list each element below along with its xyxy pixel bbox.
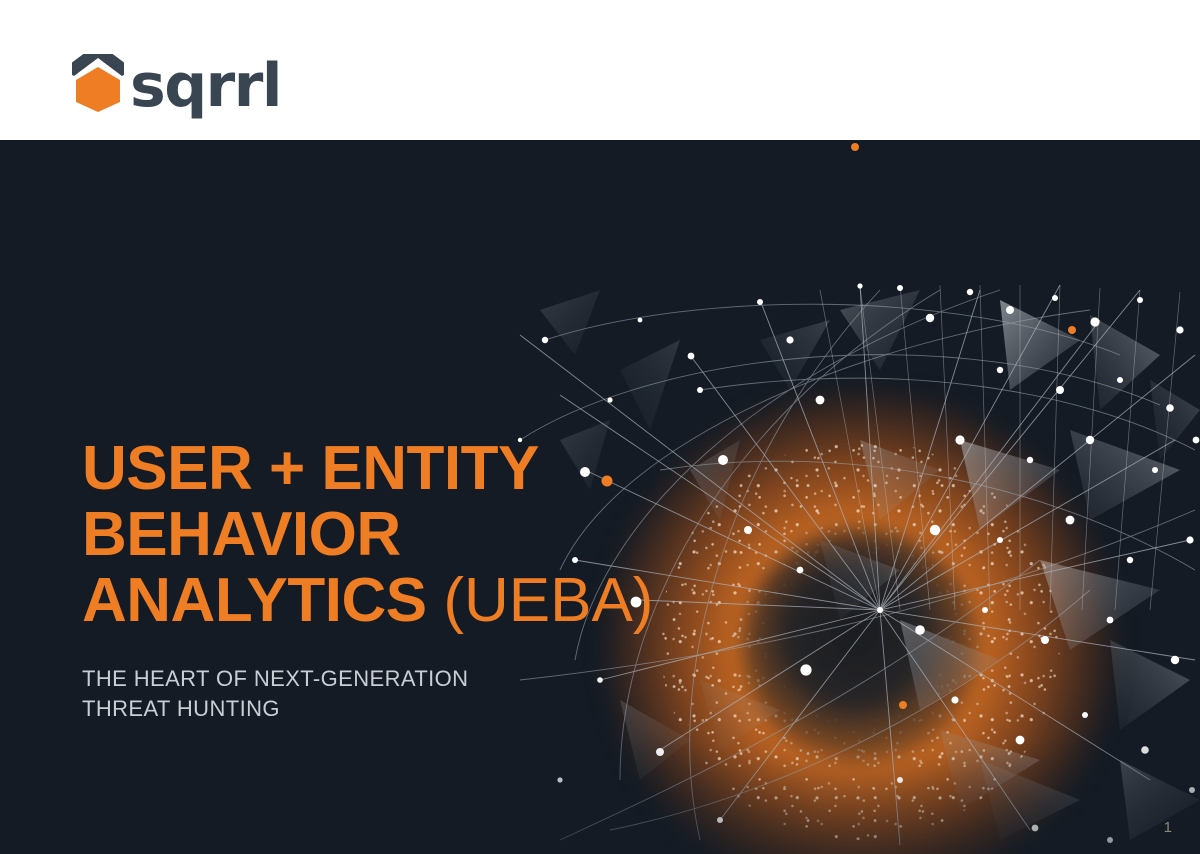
slide-header: sqrrl [0, 0, 1200, 140]
hero-subtitle-line-1: THE HEART OF NEXT-GENERATION [82, 664, 642, 694]
hero-title-line-3: ANALYTICS (UEBA) [82, 568, 642, 634]
hero-section: USER + ENTITY BEHAVIOR ANALYTICS (UEBA) … [0, 140, 1200, 854]
hero-text-block: USER + ENTITY BEHAVIOR ANALYTICS (UEBA) … [82, 436, 642, 724]
hero-title-ueba: (UEBA) [443, 566, 653, 635]
page-number: 1 [1164, 819, 1172, 836]
hero-title-line-2: BEHAVIOR [82, 502, 642, 568]
slide-canvas: sqrrl [0, 0, 1200, 854]
sqrrl-logo: sqrrl [72, 52, 281, 114]
sqrrl-wordmark: sqrrl [130, 56, 281, 116]
hero-subtitle: THE HEART OF NEXT-GENERATION THREAT HUNT… [82, 664, 642, 724]
hero-title-analytics: ANALYTICS [82, 566, 443, 635]
hero-subtitle-line-2: THREAT HUNTING [82, 694, 642, 724]
hero-title-line-1: USER + ENTITY [82, 436, 642, 502]
sqrrl-hexagon-logo-icon [72, 54, 124, 112]
